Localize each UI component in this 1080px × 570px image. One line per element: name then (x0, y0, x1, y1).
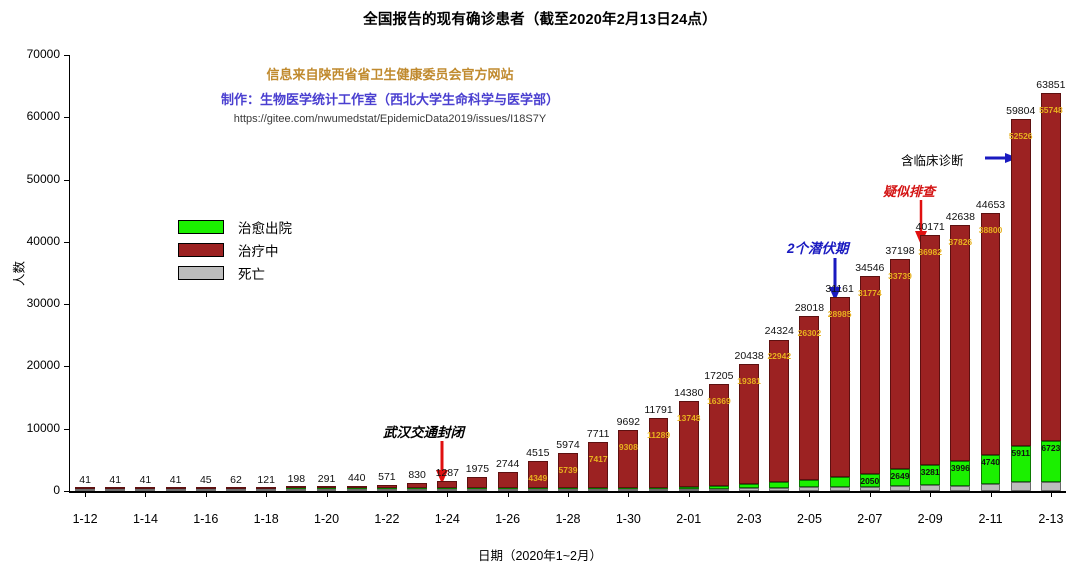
bar-segment-treating (588, 442, 608, 488)
bar-total-label: 28018 (795, 302, 824, 314)
bar-label-treating: 33739 (888, 271, 912, 281)
bar-label-treating: 36982 (918, 247, 942, 257)
x-axis-tick-label: 1-24 (435, 512, 460, 526)
y-axis-tick-label: 20000 (4, 358, 60, 372)
y-axis-tick-label: 40000 (4, 234, 60, 248)
y-axis-tick-label: 60000 (4, 109, 60, 123)
bar-column[interactable]: 2630228018 (799, 316, 819, 491)
bar-segment-treating (317, 486, 337, 488)
bar-total-label: 571 (378, 471, 396, 483)
bar-segment-dead (830, 487, 850, 491)
x-axis-tick (145, 491, 146, 497)
bar-label-cured: 2649 (891, 471, 910, 481)
bar-total-label: 59804 (1006, 105, 1035, 117)
bar-label-treating: 31774 (858, 288, 882, 298)
bar-total-label: 63851 (1036, 79, 1065, 91)
x-axis-tick (508, 491, 509, 497)
bar-label-treating: 37826 (949, 237, 973, 247)
bar-column[interactable]: 59115252659804 (1011, 119, 1031, 491)
legend-item-cured: 治愈出院 (178, 215, 292, 238)
bar-column[interactable]: 39963782642638 (950, 225, 970, 491)
bar-label-treating: 11289 (647, 430, 670, 440)
bar-label-cured: 2050 (860, 476, 879, 486)
y-axis-tick-label: 50000 (4, 172, 60, 186)
bar-column[interactable]: 74177711 (588, 442, 608, 491)
bar-segment-dead (950, 486, 970, 491)
bar-total-label: 41 (170, 474, 182, 486)
legend-swatch-treating (178, 243, 224, 257)
legend-label-treating: 治疗中 (238, 240, 279, 260)
bar-column[interactable]: 32813698240171 (920, 235, 940, 491)
x-axis-tick (809, 491, 810, 497)
bar-column[interactable]: 2898531161 (830, 297, 850, 491)
bar-total-label: 830 (408, 469, 426, 481)
bar-segment-treating (981, 213, 1001, 455)
y-axis-tick (64, 429, 70, 430)
x-axis-tick-label: 2-03 (737, 512, 762, 526)
legend-item-dead: 死亡 (178, 261, 292, 284)
annotation-clinical-diagnosis: 含临床诊断 (901, 150, 964, 169)
x-axis-tick-label: 2-05 (797, 512, 822, 526)
bar-total-label: 34546 (855, 262, 884, 274)
y-axis-tick (64, 180, 70, 181)
x-axis-tick-label: 1-26 (495, 512, 520, 526)
bar-label-treating: 38800 (979, 225, 1003, 235)
bar-total-label: 5974 (556, 439, 579, 451)
bar-column[interactable]: 41 (105, 488, 125, 491)
bar-label-treating: 52526 (1009, 131, 1033, 141)
bar-label-treating: 16369 (707, 396, 731, 406)
x-axis-tick (749, 491, 750, 497)
x-axis-tick (1051, 491, 1052, 497)
x-axis-tick-label: 1-16 (193, 512, 218, 526)
bar-total-label: 121 (257, 474, 275, 486)
y-axis-tick-label: 30000 (4, 296, 60, 310)
legend-label-dead: 死亡 (238, 263, 265, 283)
bar-segment-cured (830, 477, 850, 487)
bar-total-label: 40171 (916, 221, 945, 233)
bar-total-label: 2744 (496, 458, 519, 470)
x-axis-tick-label: 1-22 (374, 512, 399, 526)
bar-column[interactable]: 57395974 (558, 453, 578, 491)
bar-label-treating: 28985 (828, 309, 852, 319)
bar-total-label: 9692 (617, 416, 640, 428)
bar-segment-treating (950, 225, 970, 461)
x-axis-tick (628, 491, 629, 497)
x-axis-tick (206, 491, 207, 497)
legend-label-cured: 治愈出院 (238, 217, 292, 237)
y-axis-tick-label: 0 (4, 483, 60, 497)
bar-segment-treating (890, 259, 910, 469)
legend-swatch-cured (178, 220, 224, 234)
bar-segment-treating (347, 486, 367, 489)
x-axis-tick (930, 491, 931, 497)
bar-label-treating: 7417 (589, 454, 608, 464)
bar-total-label: 4515 (526, 447, 549, 459)
bar-segment-treating (830, 297, 850, 478)
bar-column[interactable]: 2744 (498, 472, 518, 491)
bar-column[interactable]: 440 (347, 486, 367, 491)
bar-column[interactable]: 62 (226, 488, 246, 491)
bar-segment-cured (799, 480, 819, 487)
bar-total-label: 31161 (825, 283, 853, 295)
annotation-two-incubation: 2个潜伏期 (787, 237, 849, 257)
bar-segment-treating (377, 485, 397, 488)
bar-segment-cured (709, 486, 729, 489)
legend: 治愈出院 治疗中 死亡 (178, 215, 292, 284)
bar-label-cured: 3281 (921, 467, 940, 477)
bar-segment-dead (1041, 482, 1061, 491)
x-axis-tick-label: 1-28 (555, 512, 580, 526)
bar-column[interactable]: 1287 (437, 481, 457, 491)
bar-segment-cured (739, 484, 759, 488)
bar-column[interactable]: 20503177434546 (860, 276, 880, 491)
legend-swatch-dead (178, 266, 224, 280)
bar-total-label: 11791 (644, 404, 672, 416)
bar-label-cured: 5911 (1011, 448, 1029, 458)
bar-total-label: 1975 (466, 463, 489, 475)
bar-segment-treating (166, 487, 186, 489)
bar-total-label: 24324 (765, 325, 794, 337)
x-axis-tick-label: 1-30 (616, 512, 641, 526)
y-axis-tick (64, 491, 70, 492)
x-axis-tick-label: 2-13 (1038, 512, 1063, 526)
x-axis-label: 日期（2020年1~2月） (0, 545, 1080, 564)
bar-segment-treating (407, 483, 427, 488)
bar-segment-treating (498, 472, 518, 488)
x-axis-tick (447, 491, 448, 497)
bar-label-treating: 4349 (528, 473, 547, 483)
bar-total-label: 20438 (734, 350, 763, 362)
bar-segment-treating (75, 487, 95, 489)
x-axis-tick-label: 2-01 (676, 512, 701, 526)
bar-column[interactable]: 2294224324 (769, 339, 789, 491)
y-axis-tick (64, 242, 70, 243)
bar-total-label: 42638 (946, 211, 975, 223)
bar-total-label: 45 (200, 474, 212, 486)
x-axis-tick-label: 2-11 (978, 512, 1002, 526)
y-axis-tick-label: 10000 (4, 421, 60, 435)
bar-label-treating: 9308 (619, 442, 638, 452)
bar-column[interactable]: 67235574863851 (1041, 93, 1061, 491)
chart-canvas: 全国报告的现有确诊患者（截至2020年2月13日24点） 信息来自陕西省省卫生健… (0, 0, 1080, 570)
bar-label-cured: 3996 (951, 463, 970, 473)
bar-column[interactable]: 47403880044653 (981, 213, 1001, 491)
bar-label-cured: 6723 (1041, 443, 1060, 453)
bar-total-label: 7711 (587, 428, 610, 440)
y-axis-tick-label: 70000 (4, 47, 60, 61)
x-axis-tick (870, 491, 871, 497)
bar-segment-cured (679, 487, 699, 489)
bar-total-label: 62 (230, 474, 242, 486)
x-axis-tick (266, 491, 267, 497)
bar-segment-treating (135, 487, 155, 489)
bar-segment-cured (769, 482, 789, 488)
bar-segment-treating (437, 481, 457, 489)
bar-column[interactable]: 1975 (467, 477, 487, 491)
bar-segment-treating (467, 477, 487, 489)
bar-label-treating: 19381 (737, 376, 761, 386)
bar-total-label: 198 (288, 473, 306, 485)
x-axis-tick-label: 1-12 (73, 512, 98, 526)
bar-total-label: 14380 (674, 387, 703, 399)
legend-item-treating: 治疗中 (178, 238, 292, 261)
bar-segment-dead (981, 484, 1001, 491)
x-axis-tick (387, 491, 388, 497)
bar-segment-dead (890, 486, 910, 491)
bar-column[interactable]: 1374814380 (679, 401, 699, 491)
bar-segment-dead (769, 488, 789, 491)
bar-label-treating: 26302 (798, 328, 822, 338)
bar-column[interactable]: 1128911791 (649, 418, 669, 491)
bar-segment-treating (920, 235, 940, 465)
bar-segment-treating (1041, 93, 1061, 440)
bar-total-label: 1287 (436, 467, 459, 479)
bar-segment-treating (799, 316, 819, 480)
x-axis-tick (689, 491, 690, 497)
x-axis-tick-label: 1-14 (133, 512, 158, 526)
bar-segment-treating (1011, 119, 1031, 446)
bar-column[interactable]: 43494515 (528, 461, 548, 491)
y-axis-tick (64, 117, 70, 118)
bar-label-treating: 13748 (677, 413, 701, 423)
x-axis-tick (85, 491, 86, 497)
bar-segment-treating (196, 487, 216, 489)
bar-label-treating: 55748 (1039, 105, 1063, 115)
y-axis-tick (64, 304, 70, 305)
chart-title: 全国报告的现有确诊患者（截至2020年2月13日24点） (0, 8, 1080, 29)
bar-segment-treating (649, 418, 669, 488)
x-axis-tick (327, 491, 328, 497)
bar-column[interactable]: 41 (166, 488, 186, 491)
x-axis-tick (991, 491, 992, 497)
bar-total-label: 41 (109, 474, 121, 486)
bar-segment-treating (256, 487, 276, 489)
bar-segment-treating (860, 276, 880, 474)
bar-column[interactable]: 1636917205 (709, 384, 729, 491)
bar-column[interactable]: 1938120438 (739, 364, 759, 491)
x-axis-tick-label: 1-18 (254, 512, 279, 526)
annotation-arrow-two-incubation (828, 258, 842, 302)
y-axis-label: 人数 (9, 244, 28, 304)
y-axis-tick (64, 55, 70, 56)
bar-column[interactable]: 198 (286, 487, 306, 491)
bar-total-label: 44653 (976, 199, 1005, 211)
bar-label-treating: 22942 (767, 351, 791, 361)
bar-total-label: 41 (140, 474, 152, 486)
bar-column[interactable]: 93089692 (618, 430, 638, 491)
annotation-suspected-screening: 疑似排查 (883, 181, 935, 200)
x-axis-tick-label: 2-09 (918, 512, 943, 526)
bar-column[interactable]: 830 (407, 483, 427, 491)
bar-label-treating: 5739 (559, 465, 578, 475)
bar-label-cured: 4740 (981, 457, 1000, 467)
bar-column[interactable]: 26493373937198 (890, 259, 910, 491)
bar-total-label: 291 (318, 473, 336, 485)
x-axis-tick-label: 2-07 (857, 512, 882, 526)
bar-total-label: 17205 (704, 370, 733, 382)
bar-total-label: 37198 (885, 245, 914, 257)
bar-total-label: 41 (79, 474, 91, 486)
bar-segment-treating (618, 430, 638, 488)
bar-total-label: 440 (348, 472, 366, 484)
x-axis-tick-label: 1-20 (314, 512, 339, 526)
bar-segment-dead (1011, 482, 1031, 491)
bar-segment-treating (226, 487, 246, 489)
bar-segment-dead (709, 489, 729, 491)
bar-segment-treating (286, 486, 306, 488)
y-axis-tick (64, 366, 70, 367)
annotation-wuhan-lockdown: 武汉交通封闭 (383, 421, 464, 441)
x-axis-tick (568, 491, 569, 497)
bar-segment-treating (105, 487, 125, 489)
